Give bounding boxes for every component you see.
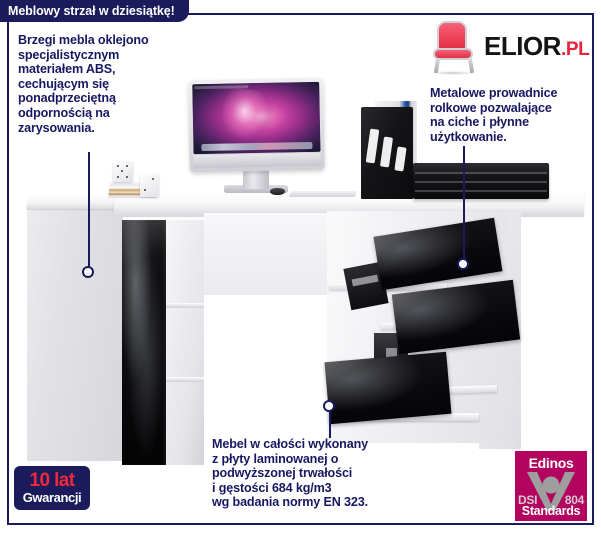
promo-graphic: Brzegi mebla oklejono specjalistycznym m… <box>0 0 601 534</box>
mouse <box>270 188 285 195</box>
left-shelf-column <box>166 220 204 465</box>
logo-brand-text: ELIOR <box>484 33 561 59</box>
elior-logo[interactable]: ELIOR .PL <box>428 18 588 76</box>
warranty-label: Gwarancji <box>23 490 82 505</box>
dice-block <box>113 161 133 182</box>
callout-edge-abs: Brzegi mebla oklejono specjalistycznym m… <box>18 33 198 135</box>
leader-line-edge-abs <box>88 152 90 272</box>
tray-seam <box>415 181 547 183</box>
shelf-divider <box>166 303 204 308</box>
magazine-file-holder <box>361 107 413 199</box>
tray-seam <box>415 172 547 174</box>
edinos-title: Edinos <box>515 455 587 471</box>
edinos-standards-badge: Edinos DSI 804 Standards <box>515 451 587 521</box>
warranty-badge: 10 lat Gwarancji <box>14 466 90 510</box>
dice-block <box>140 174 159 197</box>
holder-cutout <box>366 129 380 164</box>
logo-tld-text: .PL <box>561 39 589 61</box>
tray-seam <box>415 190 547 192</box>
armchair-icon <box>428 19 480 75</box>
leader-line-board-density <box>329 412 331 438</box>
warranty-years: 10 lat <box>30 471 75 490</box>
shelf-divider <box>166 377 204 382</box>
leader-dot-edge-abs <box>82 266 94 278</box>
keyboard <box>289 191 357 197</box>
leader-dot-metal-runners <box>457 258 469 270</box>
callout-board-density: Mebel w całości wykonany z płyty laminow… <box>212 437 442 510</box>
imac-monitor <box>188 78 325 173</box>
monitor-screen-wallpaper <box>192 82 320 154</box>
promo-banner: Meblowy strzał w dziesiątkę! <box>0 0 189 22</box>
promo-banner-text: Meblowy strzał w dziesiątkę! <box>8 4 175 18</box>
printer-tray-stack <box>413 163 549 199</box>
holder-cutout <box>394 146 406 171</box>
leader-dot-board-density <box>323 400 335 412</box>
left-pedestal-body <box>27 207 123 461</box>
monitor-chin <box>194 153 321 168</box>
edinos-standards-text: Standards <box>515 504 587 518</box>
left-gloss-door <box>122 220 166 465</box>
holder-cutout <box>380 137 393 168</box>
leader-line-metal-runners <box>463 146 465 264</box>
callout-metal-runners: Metalowe prowadnice rolkowe pozwalające … <box>430 86 595 144</box>
gloss-drawer-bottom <box>325 352 452 424</box>
